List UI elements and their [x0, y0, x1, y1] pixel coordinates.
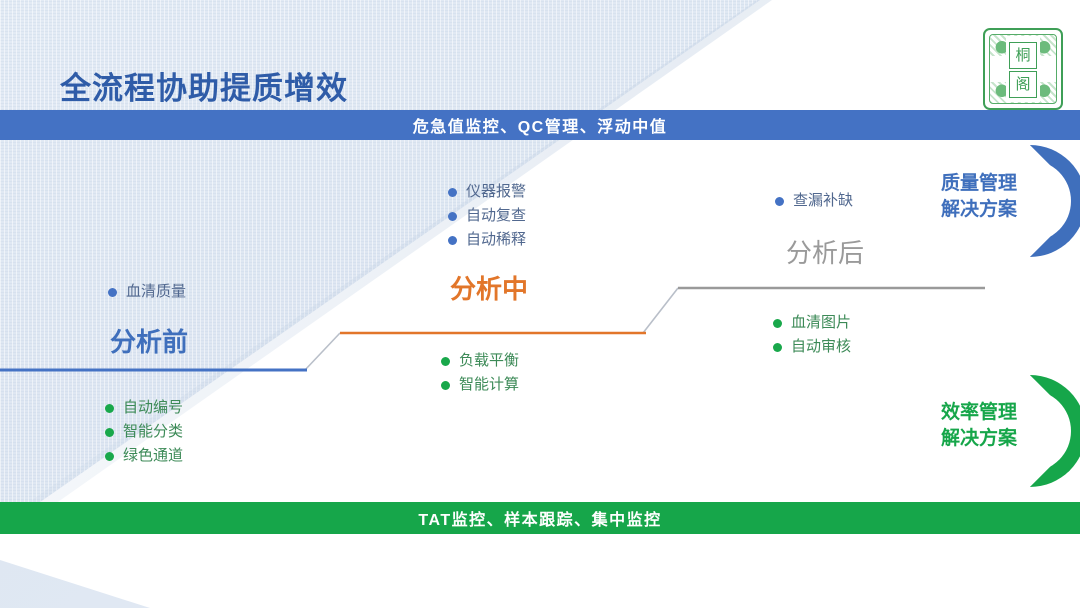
list-item: 自动审核: [773, 335, 851, 359]
list-mid-analysis-quality: 仪器报警 自动复查 自动稀释: [448, 180, 526, 252]
list-item: 智能计算: [441, 373, 519, 397]
stair-riser-1: [305, 333, 340, 370]
list-item-label: 血清图片: [791, 311, 851, 335]
process-staircase: [0, 0, 1080, 608]
solution-efficiency-line1: 效率管理: [941, 400, 1017, 426]
bullet-dot-icon: [105, 404, 114, 413]
list-post-analysis-quality: 查漏补缺: [775, 189, 853, 213]
bullet-dot-icon: [105, 452, 114, 461]
list-item: 绿色通道: [105, 444, 183, 468]
bullet-dot-icon: [775, 197, 784, 206]
list-item: 血清质量: [108, 280, 186, 304]
solution-efficiency-management: 效率管理 解决方案: [941, 400, 1017, 452]
solution-quality-line1: 质量管理: [941, 171, 1017, 197]
list-item-label: 血清质量: [126, 280, 186, 304]
list-item-label: 绿色通道: [123, 444, 183, 468]
list-item-label: 自动审核: [791, 335, 851, 359]
solution-quality-line2: 解决方案: [941, 197, 1017, 223]
slide-canvas: 全流程协助提质增效 桐 阁 危急值监控、QC管理、浮动中值 TAT监控、样本跟踪…: [0, 0, 1080, 608]
bullet-dot-icon: [448, 236, 457, 245]
list-item-label: 负载平衡: [459, 349, 519, 373]
list-pre-analysis-quality: 血清质量: [108, 280, 186, 304]
list-mid-analysis-efficiency: 负载平衡 智能计算: [441, 349, 519, 397]
bullet-dot-icon: [773, 319, 782, 328]
solution-efficiency-line2: 解决方案: [941, 426, 1017, 452]
bullet-dot-icon: [105, 428, 114, 437]
list-item: 查漏补缺: [775, 189, 853, 213]
bullet-dot-icon: [448, 212, 457, 221]
list-item: 自动稀释: [448, 228, 526, 252]
list-item: 负载平衡: [441, 349, 519, 373]
list-item-label: 自动复查: [466, 204, 526, 228]
stair-riser-2: [643, 288, 678, 333]
stage-label-pre: 分析前: [110, 322, 188, 359]
list-item: 血清图片: [773, 311, 851, 335]
list-item-label: 仪器报警: [466, 180, 526, 204]
list-item: 自动编号: [105, 396, 183, 420]
list-post-analysis-efficiency: 血清图片 自动审核: [773, 311, 851, 359]
list-item-label: 智能分类: [123, 420, 183, 444]
bullet-dot-icon: [441, 381, 450, 390]
list-pre-analysis-efficiency: 自动编号 智能分类 绿色通道: [105, 396, 183, 468]
solution-quality-management: 质量管理 解决方案: [941, 171, 1017, 223]
list-item-label: 查漏补缺: [793, 189, 853, 213]
stage-label-post: 分析后: [786, 233, 864, 270]
list-item: 智能分类: [105, 420, 183, 444]
list-item: 自动复查: [448, 204, 526, 228]
bullet-dot-icon: [448, 188, 457, 197]
stage-label-mid: 分析中: [450, 269, 528, 306]
bullet-dot-icon: [773, 343, 782, 352]
list-item-label: 自动编号: [123, 396, 183, 420]
bullet-dot-icon: [108, 288, 117, 297]
list-item-label: 智能计算: [459, 373, 519, 397]
list-item-label: 自动稀释: [466, 228, 526, 252]
bullet-dot-icon: [441, 357, 450, 366]
list-item: 仪器报警: [448, 180, 526, 204]
